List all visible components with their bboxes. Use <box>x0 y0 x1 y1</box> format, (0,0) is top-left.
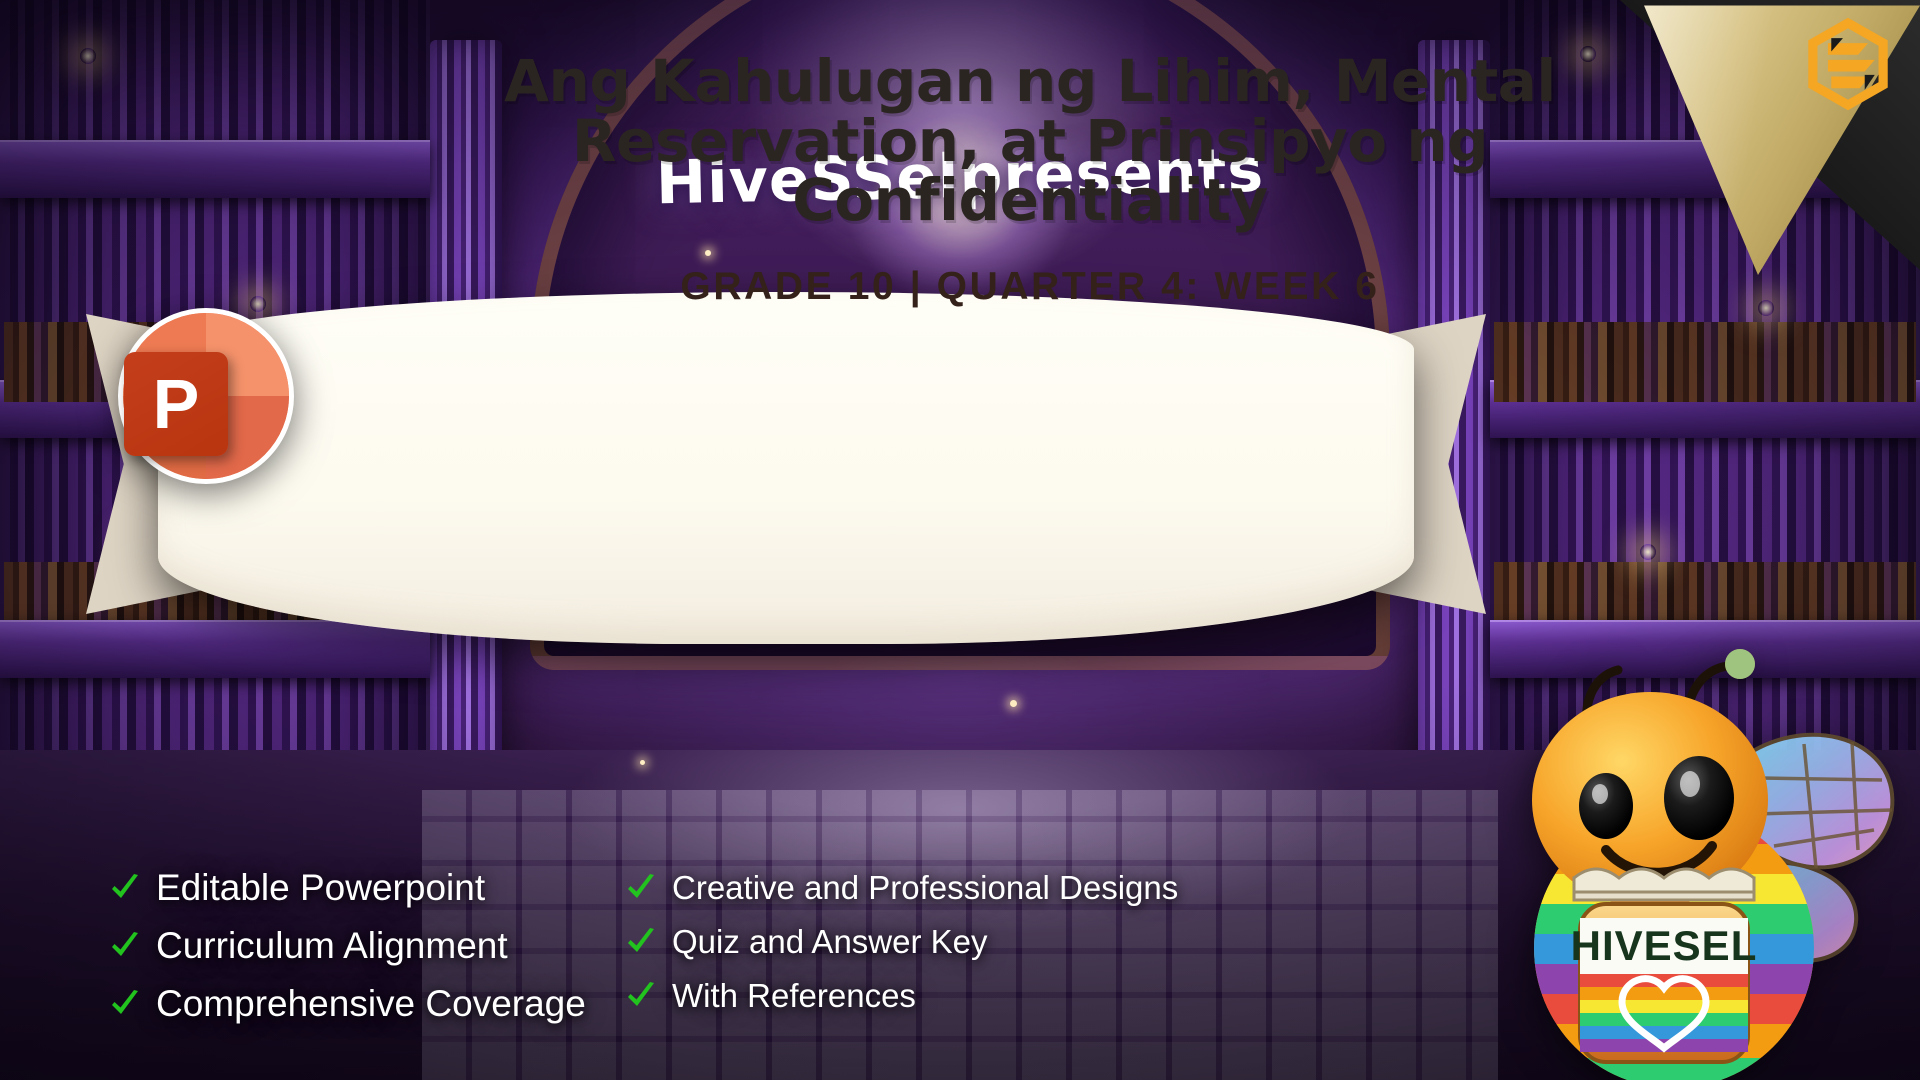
powerpoint-icon-letter: P <box>124 352 228 456</box>
feature-label: Creative and Professional Designs <box>672 869 1178 907</box>
list-item: Creative and Professional Designs <box>624 869 1164 907</box>
honey-jar: HIVESEL <box>1571 869 1758 1062</box>
ribbon-content: Ang Kahulugan ng Lihim, Mental Reservati… <box>260 52 1800 309</box>
page-title: Ang Kahulugan ng Lihim, Mental Reservati… <box>260 52 1800 231</box>
list-item: Editable Powerpoint <box>108 867 578 909</box>
title-ribbon <box>86 292 1486 652</box>
feature-label: Quiz and Answer Key <box>672 923 988 961</box>
ribbon-body <box>158 292 1414 644</box>
list-item: With References <box>624 977 1164 1015</box>
list-item: Quiz and Answer Key <box>624 923 1164 961</box>
feature-label: With References <box>672 977 916 1015</box>
rainbow-bee-mascot: HIVESEL <box>1474 618 1904 1080</box>
title-line-3: Confidentiality <box>260 171 1800 231</box>
feature-label: Editable Powerpoint <box>156 867 485 909</box>
powerpoint-icon: P <box>118 308 294 484</box>
promotional-poster: HiveSSel presents P Ang Kahulugan ng Lih… <box>0 0 1920 1080</box>
list-item: Curriculum Alignment <box>108 925 578 967</box>
green-check-icon <box>624 871 658 905</box>
feature-list: Editable Powerpoint Curriculum Alignment… <box>108 867 1188 1025</box>
feature-label: Curriculum Alignment <box>156 925 508 967</box>
feature-column-right: Creative and Professional Designs Quiz a… <box>624 867 1164 1025</box>
green-check-icon <box>108 871 142 905</box>
svg-text:HIVESEL: HIVESEL <box>1571 922 1758 969</box>
title-line-1: Ang Kahulugan ng Lihim, Mental <box>260 52 1800 112</box>
green-check-icon <box>108 987 142 1021</box>
feature-column-left: Editable Powerpoint Curriculum Alignment… <box>108 867 578 1025</box>
feature-label: Comprehensive Coverage <box>156 983 586 1025</box>
title-line-2: Reservation, at Prinsipyo ng <box>260 112 1800 172</box>
green-check-icon <box>624 979 658 1013</box>
green-check-icon <box>108 929 142 963</box>
hivessel-logo[interactable] <box>1806 18 1890 110</box>
green-check-icon <box>624 925 658 959</box>
grade-quarter-week-subtitle: GRADE 10 | QUARTER 4: WEEK 6 <box>260 265 1800 309</box>
list-item: Comprehensive Coverage <box>108 983 578 1025</box>
hexagon-monogram-icon <box>1806 18 1890 110</box>
